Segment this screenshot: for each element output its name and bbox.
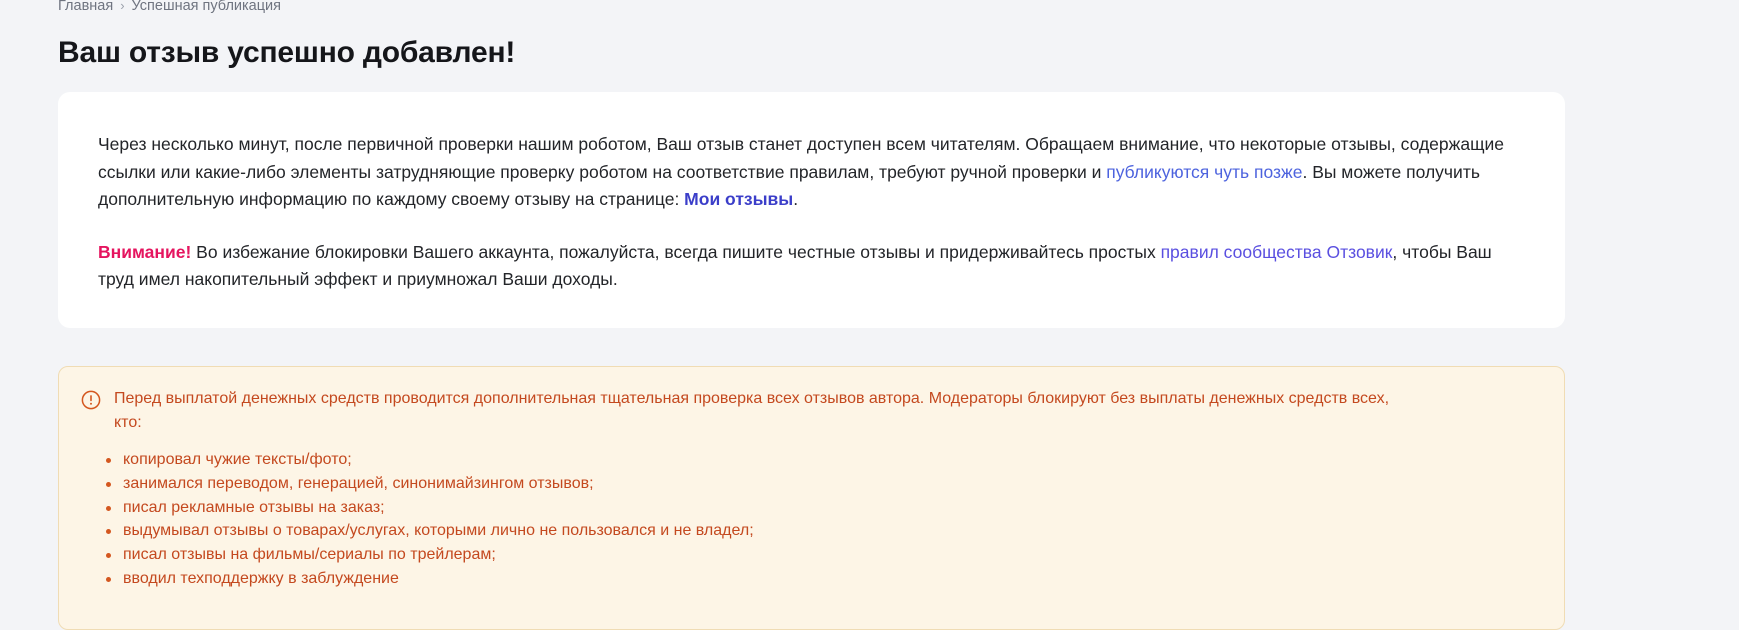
breadcrumb-separator-icon: ›	[120, 0, 124, 16]
page-title: Ваш отзыв успешно добавлен!	[58, 33, 515, 73]
breadcrumb-current: Успешная публикация	[132, 0, 281, 16]
breadcrumb: Главная › Успешная публикация	[58, 0, 281, 16]
info-text-part-3: .	[793, 189, 798, 209]
published-later-link[interactable]: публикуются чуть позже	[1106, 162, 1302, 182]
attention-text-part-1: Во избежание блокировки Вашего аккаунта,…	[191, 242, 1160, 262]
exclamation-circle-icon	[81, 390, 101, 410]
alert-header: Перед выплатой денежных средств проводит…	[81, 387, 1538, 435]
community-rules-link[interactable]: правил сообщества Отзовик	[1161, 242, 1393, 262]
violation-list: копировал чужие тексты/фото; занимался п…	[81, 448, 1538, 591]
list-item: вводил техподдержку в заблуждение	[123, 567, 1538, 591]
list-item: писал отзывы на фильмы/сериалы по трейле…	[123, 543, 1538, 567]
list-item: выдумывал отзывы о товарах/услугах, кото…	[123, 519, 1538, 543]
info-paragraph-attention: Внимание! Во избежание блокировки Вашего…	[98, 239, 1525, 294]
payout-warning-alert: Перед выплатой денежных средств проводит…	[58, 366, 1565, 630]
list-item: копировал чужие тексты/фото;	[123, 448, 1538, 472]
alert-message: Перед выплатой денежных средств проводит…	[114, 387, 1414, 435]
info-paragraph-publication: Через несколько минут, после первичной п…	[98, 131, 1525, 214]
breadcrumb-home-link[interactable]: Главная	[58, 0, 113, 16]
page-root: Главная › Успешная публикация Ваш отзыв …	[0, 0, 1739, 630]
list-item: писал рекламные отзывы на заказ;	[123, 496, 1538, 520]
info-card: Через несколько минут, после первичной п…	[58, 92, 1565, 328]
my-reviews-link[interactable]: Мои отзывы	[684, 189, 793, 209]
list-item: занимался переводом, генерацией, синоним…	[123, 472, 1538, 496]
attention-label: Внимание!	[98, 242, 191, 262]
